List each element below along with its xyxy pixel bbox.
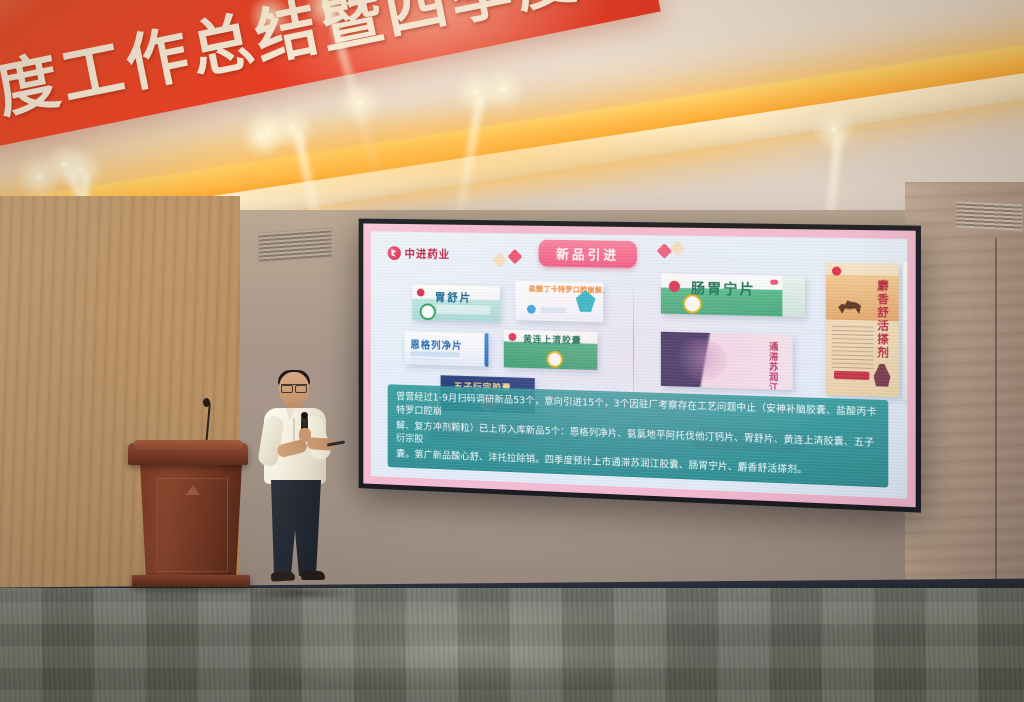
downlight-icon	[36, 175, 42, 179]
product-box-huanglianshangqing: 黄连上清胶囊	[504, 330, 598, 370]
downlight-icon	[473, 90, 479, 94]
product-seal-icon	[420, 303, 436, 320]
product-box-kateluo: 盐酸丁卡特罗口腔崩解片	[515, 281, 603, 323]
screen-surface: 中进药业 新品引进 胃舒片 盐酸丁卡特罗口腔崩解片	[363, 223, 915, 507]
carpet-floor	[0, 588, 1024, 702]
product-box-changweining: 肠胃宁片	[661, 274, 805, 317]
presenter-shoe	[271, 571, 295, 581]
product-name: 胃舒片	[435, 289, 472, 305]
product-box-artwork	[410, 351, 459, 357]
presenter-trousers	[271, 480, 321, 576]
right-wall	[905, 182, 1024, 622]
air-vent-left-icon	[258, 227, 332, 262]
brand-mark-icon	[669, 281, 680, 292]
product-box-artwork	[541, 307, 566, 314]
downlight-icon	[356, 100, 363, 105]
presenter-shoe	[301, 571, 325, 580]
product-box-text-block	[832, 326, 874, 370]
product-dot-icon	[527, 305, 536, 314]
glasses-icon	[281, 384, 307, 391]
product-box-weishupian: 胃舒片	[412, 285, 500, 322]
podium-base	[132, 575, 250, 587]
company-logo-text: 中进药业	[405, 245, 451, 261]
product-insert-leaflet	[903, 261, 907, 400]
presenter	[255, 372, 345, 594]
air-vent-icon	[955, 200, 1023, 232]
product-name: 恩格列净片	[410, 336, 462, 352]
downlight-icon	[266, 13, 274, 19]
product-seal-icon	[683, 294, 702, 314]
downlight-icon	[78, 168, 83, 171]
company-logo-icon	[388, 246, 401, 260]
product-name: 肠胃宁片	[691, 278, 756, 299]
product-name: 黄连上清胶囊	[523, 332, 582, 346]
product-name: 麝香舒活搽剂	[874, 279, 891, 360]
figure-illustration-icon	[874, 364, 891, 387]
right-wall-woodgrain	[905, 182, 1024, 622]
led-video-wall[interactable]: 中进药业 新品引进 胃舒片 盐酸丁卡特罗口腔崩解片	[359, 219, 921, 513]
product-name: 通滞苏润江胶囊	[767, 341, 780, 390]
product-box-accent	[770, 280, 778, 285]
product-box-accent	[834, 371, 869, 380]
conference-room-photo: 三季度工作总结暨四季度工 中进药业 新品引进	[0, 0, 1024, 702]
downlight-icon	[322, 3, 330, 9]
gooseneck-microphone-icon	[203, 398, 210, 407]
decoration-diamond-icon	[670, 240, 686, 256]
carpet-tile-pattern	[0, 588, 1024, 702]
door-seam[interactable]	[995, 238, 997, 590]
brand-mark-icon	[417, 289, 425, 297]
decoration-diamond-icon	[507, 249, 522, 264]
presenter-hand	[299, 428, 311, 442]
product-seal-icon	[546, 351, 563, 368]
slide-title: 新品引进	[539, 240, 637, 268]
decoration-diamond-icon	[492, 253, 507, 268]
product-box-side-panel	[485, 333, 489, 367]
company-logo: 中进药业	[388, 245, 450, 262]
decoration-diamond-icon	[657, 243, 673, 259]
product-box-artwork	[437, 305, 491, 315]
downlight-icon	[831, 128, 837, 132]
downlight-icon	[500, 87, 506, 91]
presentation-slide: 中进药业 新品引进 胃舒片 盐酸丁卡特罗口腔崩解片	[371, 231, 907, 498]
product-box-side-panel	[782, 276, 805, 317]
podium-top-edge	[133, 440, 243, 450]
slide-note-block: 曾营经过1-9月扫码调研新品53个，意向引进15个，3个因驻厂考察存在工艺问题中…	[388, 384, 889, 487]
product-box-engeliejing: 恩格列净片	[405, 331, 489, 367]
product-box-shexiangshuhuo: 麝香舒活搽剂	[826, 262, 899, 397]
product-box-tongzhisurunjiang: 通滞苏润江胶囊	[661, 332, 793, 390]
brand-mark-icon	[509, 333, 517, 341]
brand-mark-icon	[832, 266, 841, 275]
product-box-artwork	[410, 358, 442, 362]
downlight-icon	[290, 126, 295, 129]
product-name: 盐酸丁卡特罗口腔崩解片	[529, 284, 603, 296]
downlight-icon	[259, 135, 264, 138]
product-box-artwork	[673, 338, 727, 382]
